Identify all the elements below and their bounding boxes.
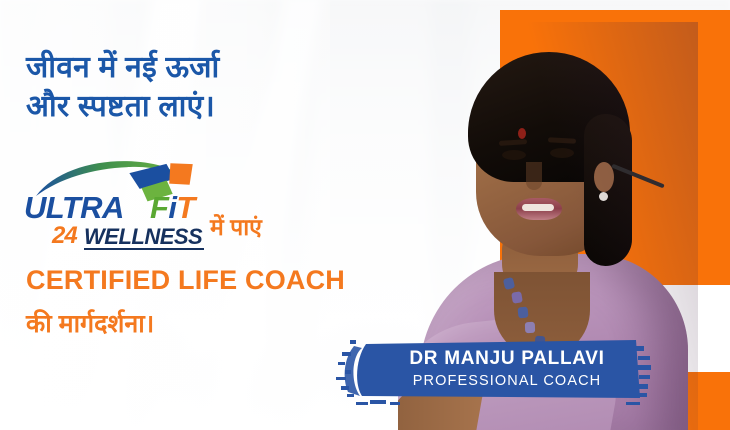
logo-word-ultra: ULTRA — [24, 190, 124, 226]
presenter-eye-left — [502, 150, 526, 160]
headline: जीवन में नई ऊर्जा और स्पष्टता लाएं। — [26, 48, 356, 126]
promo-banner: जीवन में नई ऊर्जा और स्पष्टता लाएं। ULTR… — [0, 0, 730, 430]
presenter-eye-right — [550, 148, 574, 158]
logo-letter-t: T — [176, 190, 194, 225]
logo-word-wellness: WELLNESS — [84, 224, 202, 250]
logo-underline — [84, 248, 204, 250]
headline-line-2: और स्पष्टता लाएं। — [26, 87, 356, 126]
presenter-name: DR MANJU PALLAVI — [409, 348, 604, 370]
logo-letter-f: F — [150, 190, 168, 225]
cta-english-text: CERTIFIED LIFE COACH — [26, 265, 345, 296]
presenter-nose — [526, 162, 542, 190]
presenter-earring — [599, 192, 608, 201]
logo-word-fit: FiT — [150, 190, 195, 226]
presenter-name-banner: DR MANJU PALLAVI PROFESSIONAL COACH — [336, 332, 652, 406]
cta-hindi-text: की मार्गदर्शना। — [26, 306, 154, 340]
subline-text: में पाएं — [210, 210, 262, 242]
headline-line-1: जीवन में नई ऊर्जा — [26, 48, 356, 87]
presenter-role: PROFESSIONAL COACH — [413, 372, 601, 391]
presenter-teeth — [522, 204, 554, 211]
presenter-bindi — [518, 128, 526, 139]
ultrafit-logo[interactable]: ULTRA FiT 24 WELLNESS — [22, 156, 204, 244]
logo-word-24: 24 — [52, 222, 77, 250]
